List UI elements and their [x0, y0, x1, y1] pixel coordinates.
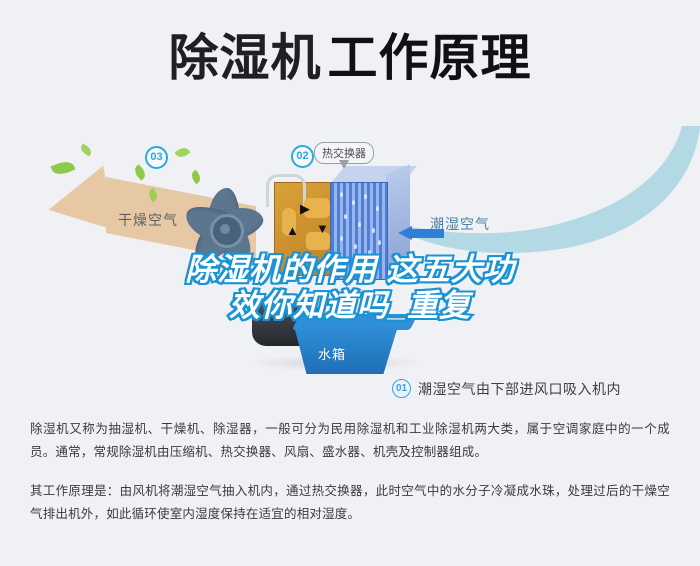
- callout-tail: [339, 160, 349, 169]
- diagram-badge-03: 03: [145, 146, 168, 169]
- overlay-headline: 除湿机的作用 这五大功 效你知道吗_重复: [0, 252, 700, 324]
- flow-arrow-up-icon: ▲: [286, 226, 299, 236]
- leaf-icon: [175, 145, 191, 160]
- paragraph-2: 其工作原理是：由风机将潮湿空气抽入机内，通过热交换器，此时空气中的水分子冷凝成水…: [30, 480, 670, 526]
- page-title: 除湿机工作原理: [0, 28, 700, 88]
- overlay-headline-line2: 效你知道吗_重复: [70, 288, 630, 324]
- fan-hub: [210, 214, 244, 248]
- flow-arrow-down-icon: ▼: [316, 224, 329, 234]
- legend-item: 01 潮湿空气由下部进风口吸入机内: [392, 374, 692, 403]
- humid-air-flow-svg: [404, 126, 700, 256]
- dry-air-arrow-head: [42, 166, 115, 243]
- legend-badge-01: 01: [392, 379, 411, 398]
- flow-arrow-right-icon: ▶: [300, 204, 310, 214]
- intake-arrow-bar: [410, 229, 444, 238]
- body-copy: 除湿机又称为抽湿机、干燥机、除湿器，一般可分为民用除湿机和工业除湿机两大类，属于…: [0, 406, 700, 526]
- page-title-part1: 除湿机: [169, 30, 322, 86]
- intake-arrow-icon: [398, 226, 444, 240]
- legend-text-01: 潮湿空气由下部进风口吸入机内: [418, 379, 621, 399]
- header: 除湿机工作原理: [0, 0, 700, 118]
- diagram-badge-02: 02: [291, 145, 314, 168]
- leaf-icon: [79, 144, 93, 157]
- paragraph-1: 除湿机又称为抽湿机、干燥机、除湿器，一般可分为民用除湿机和工业除湿机两大类，属于…: [30, 418, 670, 464]
- intake-arrow-tip: [398, 226, 412, 240]
- legend-list: 01 潮湿空气由下部进风口吸入机内 02 潮湿空气经过蒸发器冷凝成水珠 03 从…: [392, 374, 692, 406]
- infographic-page: 除湿机工作原理 03 干燥空气 01 潮湿空气: [0, 0, 700, 566]
- water-tank-label: 水箱: [318, 344, 346, 363]
- page-title-part2: 工作原理: [328, 30, 532, 86]
- overlay-headline-line1: 除湿机的作用 这五大功: [70, 252, 630, 288]
- humid-air-flow-arrow: [404, 126, 700, 256]
